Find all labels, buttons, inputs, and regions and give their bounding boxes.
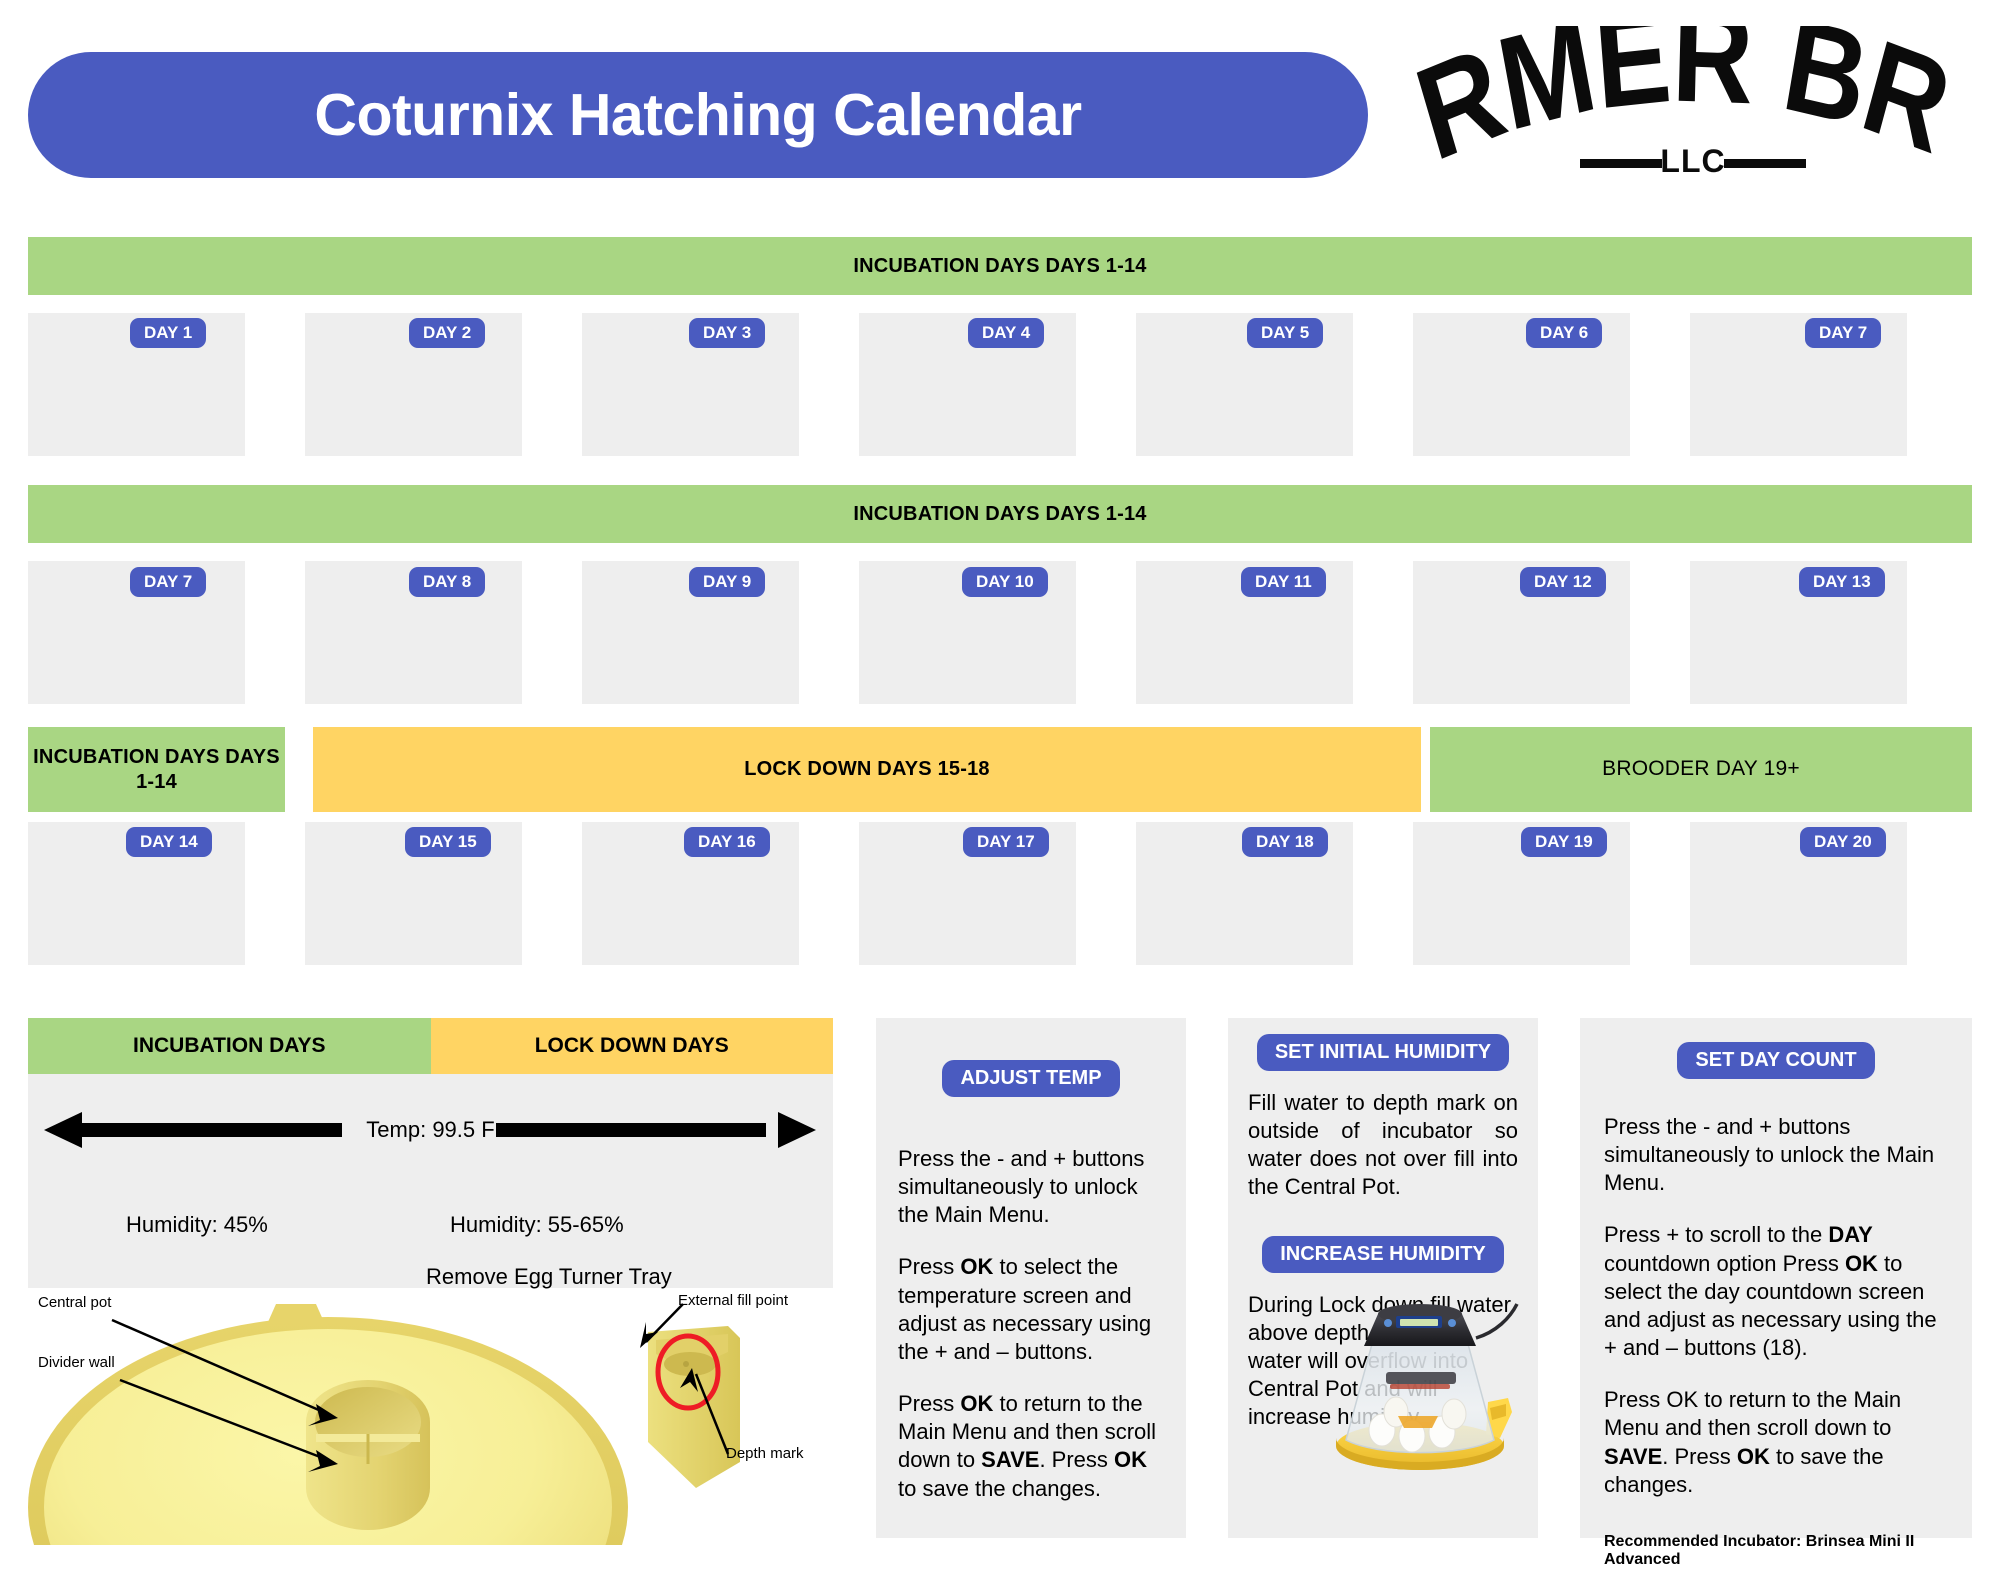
band-row3-brooder: BROODER DAY 19+: [1430, 727, 1972, 812]
day-badge-6[interactable]: DAY 6: [1526, 318, 1602, 348]
legend-lockdown-label: LOCK DOWN DAYS: [535, 1034, 729, 1058]
adjust-temp-p3-e: . Press: [1039, 1447, 1114, 1472]
day-count-paragraph-1: Press the - and + buttons simultaneously…: [1604, 1113, 1948, 1197]
day-count-p3-c: . Press: [1662, 1444, 1737, 1469]
adjust-temp-paragraph-1: Press the - and + buttons simultaneously…: [898, 1145, 1164, 1229]
adjust-temp-p3-save: SAVE: [981, 1447, 1039, 1472]
day-badge-16[interactable]: DAY 16: [684, 827, 770, 857]
day-badge-10[interactable]: DAY 10: [962, 567, 1048, 597]
legend-panel: INCUBATION DAYS LOCK DOWN DAYS Temp: 99.…: [28, 1018, 833, 1288]
day-count-p2-a: Press + to scroll to the: [1604, 1222, 1828, 1247]
day-badge-5[interactable]: DAY 5: [1247, 318, 1323, 348]
band-label: BROODER DAY 19+: [1602, 756, 1800, 782]
day-badge-8[interactable]: DAY 8: [409, 567, 485, 597]
legend-body: Temp: 99.5 F Humidity: 45% Humidity: 55-…: [28, 1074, 833, 1288]
day-count-p3-ok: OK: [1737, 1444, 1770, 1469]
logo-svg: FARMER BRAD LLC: [1412, 26, 1972, 186]
day-badge-3[interactable]: DAY 3: [689, 318, 765, 348]
band-row1-incubation: INCUBATION DAYS DAYS 1-14: [28, 237, 1972, 295]
day-badge-7[interactable]: DAY 7: [1805, 318, 1881, 348]
page-title-pill: Coturnix Hatching Calendar: [28, 52, 1368, 178]
day-badge-19[interactable]: DAY 19: [1521, 827, 1607, 857]
day-count-p2-day: DAY: [1828, 1222, 1872, 1247]
band-row3-lockdown: LOCK DOWN DAYS 15-18: [313, 727, 1421, 812]
tray-diagram-svg: [28, 1292, 833, 1545]
band-label: LOCK DOWN DAYS 15-18: [744, 757, 990, 782]
adjust-temp-p3-ok2: OK: [1114, 1447, 1147, 1472]
legend-incubation-label: INCUBATION DAYS: [133, 1034, 326, 1058]
adjust-temp-panel: ADJUST TEMP Press the - and + buttons si…: [876, 1018, 1186, 1538]
recommended-incubator-note: Recommended Incubator: Brinsea Mini II A…: [1604, 1533, 1948, 1569]
band-label: INCUBATION DAYS DAYS 1-14: [28, 745, 285, 795]
band-row2-incubation: INCUBATION DAYS DAYS 1-14: [28, 485, 1972, 543]
adjust-temp-p2-a: Press: [898, 1254, 960, 1279]
adjust-temp-p3-g: to save the changes.: [898, 1476, 1101, 1501]
day-badge-14[interactable]: DAY 14: [126, 827, 212, 857]
day-badge-1[interactable]: DAY 1: [130, 318, 206, 348]
day-count-p2-c: countdown option Press: [1604, 1251, 1845, 1276]
day-badge-20[interactable]: DAY 20: [1800, 827, 1886, 857]
tray-label-external-fill-point: External fill point: [678, 1292, 788, 1309]
legend-header: INCUBATION DAYS LOCK DOWN DAYS: [28, 1018, 833, 1074]
incubator-photo: [1320, 1290, 1520, 1480]
adjust-temp-pill: ADJUST TEMP: [942, 1060, 1119, 1097]
set-initial-humidity-pill-wrap: SET INITIAL HUMIDITY: [1228, 1034, 1538, 1071]
humidity-lockdown-label: Humidity: 55-65%: [450, 1212, 624, 1238]
tray-label-central-pot: Central pot: [38, 1294, 111, 1311]
day-badge-18[interactable]: DAY 18: [1242, 827, 1328, 857]
adjust-temp-p2-ok: OK: [960, 1254, 993, 1279]
legend-incubation-header: INCUBATION DAYS: [28, 1018, 431, 1074]
band-label: INCUBATION DAYS DAYS 1-14: [853, 254, 1146, 279]
band-label: INCUBATION DAYS DAYS 1-14: [853, 502, 1146, 527]
band-row3-incubation: INCUBATION DAYS DAYS 1-14: [28, 727, 285, 812]
day-count-p3-a: Press OK to return to the Main Menu and …: [1604, 1387, 1901, 1440]
day-badge-7b[interactable]: DAY 7: [130, 567, 206, 597]
adjust-temp-p3-a: Press: [898, 1391, 960, 1416]
humidity-panel: SET INITIAL HUMIDITY Fill water to depth…: [1228, 1018, 1538, 1538]
humidity-paragraph-1: Fill water to depth mark on outside of i…: [1248, 1089, 1518, 1202]
humidity-incubation-label: Humidity: 45%: [126, 1212, 268, 1238]
page-header: Coturnix Hatching Calendar FARMER BRAD L…: [0, 0, 2000, 210]
temperature-label: Temp: 99.5 F: [28, 1108, 833, 1152]
svg-text:LLC: LLC: [1660, 143, 1725, 179]
legend-lockdown-header: LOCK DOWN DAYS: [431, 1018, 834, 1074]
remove-egg-turner-tray-label: Remove Egg Turner Tray: [426, 1264, 672, 1290]
day-badge-17[interactable]: DAY 17: [963, 827, 1049, 857]
day-count-paragraph-2: Press + to scroll to the DAY countdown o…: [1604, 1221, 1948, 1362]
set-day-count-pill-wrap: SET DAY COUNT: [1580, 1042, 1972, 1079]
set-initial-humidity-pill: SET INITIAL HUMIDITY: [1257, 1034, 1509, 1071]
increase-humidity-pill: INCREASE HUMIDITY: [1262, 1236, 1504, 1273]
band-label-text: INCUBATION DAYS DAYS 1-14: [33, 746, 280, 793]
day-badge-15[interactable]: DAY 15: [405, 827, 491, 857]
day-badge-9[interactable]: DAY 9: [689, 567, 765, 597]
adjust-temp-p1-text: Press the - and + buttons simultaneously…: [898, 1146, 1144, 1227]
adjust-temp-paragraph-3: Press OK to return to the Main Menu and …: [898, 1390, 1164, 1503]
adjust-temp-p3-ok1: OK: [960, 1391, 993, 1416]
day-badge-11[interactable]: DAY 11: [1241, 567, 1326, 597]
day-badge-12[interactable]: DAY 12: [1520, 567, 1606, 597]
adjust-temp-pill-wrap: ADJUST TEMP: [876, 1060, 1186, 1097]
adjust-temp-paragraph-2: Press OK to select the temperature scree…: [898, 1253, 1164, 1366]
set-day-count-panel: SET DAY COUNT Press the - and + buttons …: [1580, 1018, 1972, 1538]
incubator-photo-svg: [1320, 1290, 1520, 1480]
day-badge-4[interactable]: DAY 4: [968, 318, 1044, 348]
day-count-paragraph-3: Press OK to return to the Main Menu and …: [1604, 1386, 1948, 1499]
incubator-tray-diagram: Central pot Divider wall External fill p…: [28, 1292, 833, 1545]
day-count-p3-save: SAVE: [1604, 1444, 1662, 1469]
tray-label-depth-mark: Depth mark: [726, 1445, 804, 1462]
set-day-count-pill: SET DAY COUNT: [1677, 1042, 1874, 1079]
day-badge-2[interactable]: DAY 2: [409, 318, 485, 348]
tray-label-divider-wall: Divider wall: [38, 1354, 115, 1371]
day-count-p2-ok: OK: [1845, 1251, 1878, 1276]
day-badge-13[interactable]: DAY 13: [1799, 567, 1885, 597]
temperature-arrow-row: Temp: 99.5 F: [28, 1108, 833, 1152]
increase-humidity-pill-wrap: INCREASE HUMIDITY: [1228, 1236, 1538, 1273]
farmer-brad-logo: FARMER BRAD LLC: [1412, 26, 1972, 186]
page-title: Coturnix Hatching Calendar: [314, 81, 1081, 149]
